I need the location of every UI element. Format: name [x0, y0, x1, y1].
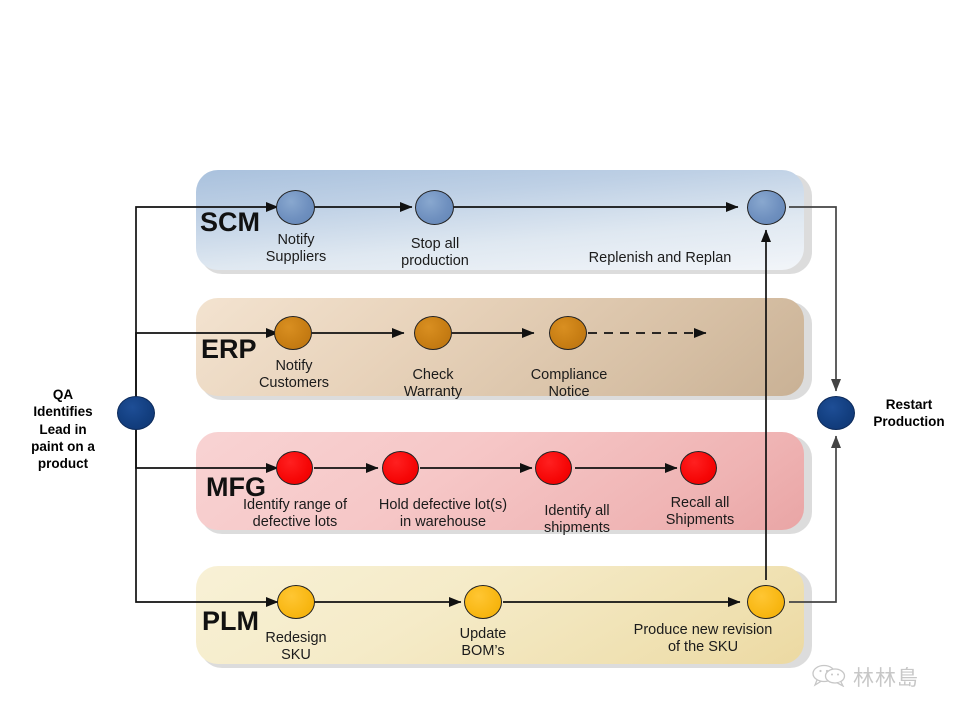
node-plm-1[interactable] [277, 585, 315, 619]
node-erp-3[interactable] [549, 316, 587, 350]
node-label-plm-3: Produce new revision of the SKU [614, 622, 792, 656]
node-label-erp-2: Check Warranty [379, 367, 487, 401]
node-erp-2[interactable] [414, 316, 452, 350]
node-label-erp-3: Compliance Notice [512, 367, 626, 401]
node-label-mfg-4: Recall all Shipments [644, 495, 756, 529]
restart-node[interactable] [817, 396, 855, 430]
node-plm-2[interactable] [464, 585, 502, 619]
node-label-erp-1: Notify Customers [240, 358, 348, 392]
wire-plm-to-restart [789, 436, 836, 602]
node-scm-2[interactable] [415, 190, 454, 225]
wire-start-trunk [136, 207, 278, 602]
node-label-scm-3: Replenish and Replan [572, 250, 748, 267]
node-mfg-2[interactable] [382, 451, 419, 485]
node-plm-3[interactable] [747, 585, 785, 619]
wechat-bubbles-icon [812, 663, 846, 692]
node-label-scm-1: Notify Suppliers [242, 232, 350, 266]
node-mfg-4[interactable] [680, 451, 717, 485]
node-label-scm-2: Stop all production [381, 236, 489, 270]
watermark: 林林島 [812, 662, 919, 692]
node-erp-1[interactable] [274, 316, 312, 350]
node-scm-1[interactable] [276, 190, 315, 225]
start-node[interactable] [117, 396, 155, 430]
node-label-plm-1: Redesign SKU [242, 630, 350, 664]
restart-node-label: Restart Production [862, 396, 956, 431]
node-label-mfg-2: Hold defective lot(s) in warehouse [367, 497, 519, 531]
node-label-mfg-1: Identify range of defective lots [222, 497, 368, 531]
node-label-plm-2: Update BOM’s [429, 626, 537, 660]
watermark-text: 林林島 [853, 662, 919, 692]
wire-scm-to-restart [789, 207, 836, 391]
diagram-canvas: QA Identifies Lead in paint on a product… [0, 0, 960, 720]
start-node-label: QA Identifies Lead in paint on a product [14, 386, 112, 472]
node-mfg-3[interactable] [535, 451, 572, 485]
node-mfg-1[interactable] [276, 451, 313, 485]
node-scm-3[interactable] [747, 190, 786, 225]
node-label-mfg-3: Identify all shipments [519, 503, 635, 537]
